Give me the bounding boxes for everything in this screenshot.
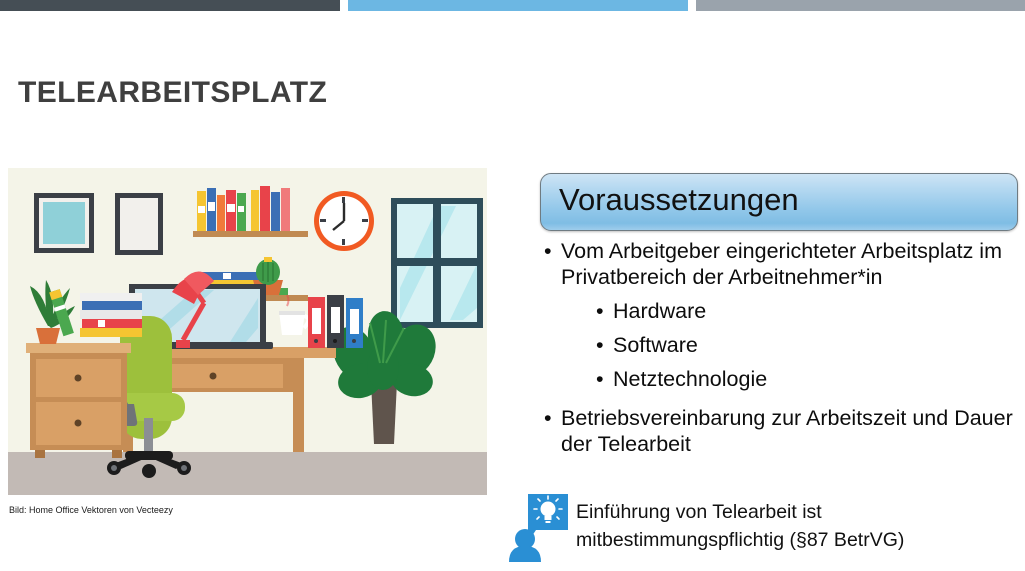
top-bar-segment-dark	[0, 0, 340, 11]
section-header-title: Voraussetzungen	[559, 182, 799, 218]
requirements-list: • Vom Arbeitgeber eingerichteter Arbeits…	[540, 238, 1020, 457]
bullet-icon: •	[544, 238, 552, 264]
list-item-label: Betriebsvereinbarung zur Arbeitszeit und…	[561, 406, 1013, 456]
page-title: TELEARBEITSPLATZ	[18, 76, 327, 110]
list-item-label: Software	[613, 333, 698, 357]
list-item-label: Netztechnologie	[613, 367, 767, 391]
footnote-line-2: mitbestimmungspflichtig (§87 BetrVG)	[576, 526, 1022, 554]
list-item: • Vom Arbeitgeber eingerichteter Arbeits…	[540, 238, 1020, 392]
bullet-icon: •	[596, 298, 604, 324]
top-bar-segment-gray	[696, 0, 1025, 11]
list-item: • Betriebsvereinbarung zur Arbeitszeit u…	[540, 405, 1020, 457]
top-bar-segment-blue	[348, 0, 688, 11]
content-panel: Voraussetzungen • Vom Arbeitgeber einger…	[540, 173, 1020, 457]
footnote-line-1: Einführung von Telearbeit ist	[576, 498, 1022, 526]
list-item: • Software	[561, 332, 1020, 358]
list-item-label: Vom Arbeitgeber eingerichteter Arbeitspl…	[561, 239, 1002, 289]
list-item-label: Hardware	[613, 299, 706, 323]
list-item: • Netztechnologie	[561, 366, 1020, 392]
requirements-sublist: • Hardware • Software • Netztechnologie	[561, 298, 1020, 392]
bullet-icon: •	[596, 366, 604, 392]
image-caption: Bild: Home Office Vektoren von Vecteezy	[9, 505, 173, 515]
footnote-text: Einführung von Telearbeit ist mitbestimm…	[576, 498, 1022, 554]
home-office-illustration	[8, 168, 487, 495]
list-item: • Hardware	[561, 298, 1020, 324]
person-idea-speech-bubble-icon	[508, 492, 570, 562]
bullet-icon: •	[544, 405, 552, 431]
bullet-icon: •	[596, 332, 604, 358]
section-header-box: Voraussetzungen	[540, 173, 1018, 231]
footnote: Einführung von Telearbeit ist mitbestimm…	[508, 492, 1023, 564]
top-accent-bar	[0, 0, 1025, 11]
